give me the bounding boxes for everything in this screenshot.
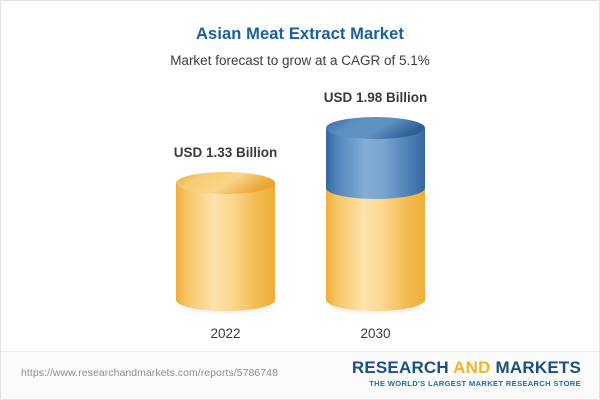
brand-tagline: THE WORLD'S LARGEST MARKET RESEARCH STOR…	[352, 379, 581, 388]
cylinder-bar-2030	[326, 117, 425, 311]
chart-panel: Asian Meat Extract Market Market forecas…	[1, 1, 599, 353]
brand-word-and: AND	[453, 358, 490, 377]
brand-word-markets: MARKETS	[491, 358, 581, 377]
bar-category-label-2030: 2030	[360, 326, 390, 341]
bar-value-label-2022: USD 1.33 Billion	[174, 145, 278, 160]
bar-group-2022[interactable]: USD 1.33 Billion	[176, 172, 275, 311]
bar-category-label-2022: 2022	[210, 326, 240, 341]
infographic-card: Asian Meat Extract Market Market forecas…	[0, 0, 600, 400]
source-url-link[interactable]: https://www.researchandmarkets.com/repor…	[21, 367, 278, 379]
brand-wordmark: RESEARCH AND MARKETS	[352, 359, 581, 377]
cylinder-bar-2022	[176, 172, 275, 311]
brand-logo[interactable]: RESEARCH AND MARKETS THE WORLD'S LARGEST…	[352, 359, 581, 388]
plot-area: USD 1.33 Billion	[1, 1, 600, 353]
bar-group-2030[interactable]: USD 1.98 Billion	[326, 117, 425, 311]
bar-value-label-2030: USD 1.98 Billion	[324, 90, 428, 105]
brand-word-research: RESEARCH	[352, 358, 453, 377]
footer-bar: https://www.researchandmarkets.com/repor…	[1, 351, 599, 399]
